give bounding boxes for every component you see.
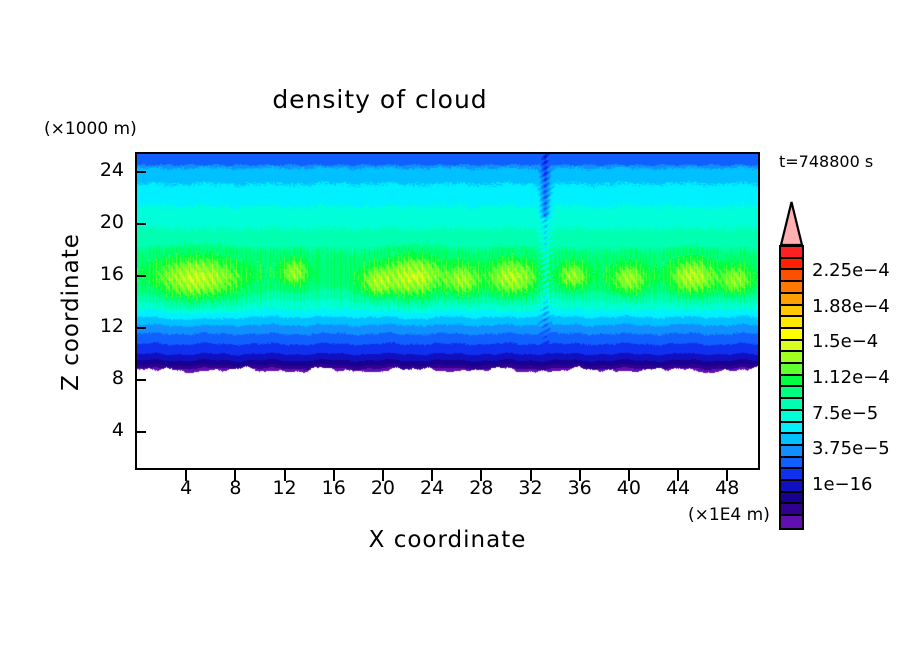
y-tick-label: 16 [78, 263, 124, 285]
colorbar-arrow-cap [779, 200, 804, 246]
colorbar-band [781, 364, 802, 376]
colorbar-band [781, 434, 802, 446]
colorbar-tick-label: 1e−16 [812, 474, 873, 495]
colorbar-band [781, 411, 802, 423]
y-tick-label: 8 [78, 367, 124, 389]
colorbar-band [781, 446, 802, 458]
y-tick-mark [135, 431, 146, 433]
colorbar-tick-label: 2.25e−4 [812, 260, 890, 281]
colorbar-band [781, 376, 802, 388]
colorbar-band [781, 329, 802, 341]
colorbar-band [781, 247, 802, 259]
colorbar-band [781, 493, 802, 505]
colorbar-band [781, 504, 802, 516]
y-tick-label: 24 [78, 159, 124, 181]
time-annotation: t=748800 s [779, 152, 873, 171]
x-tick-label: 48 [707, 477, 747, 499]
x-tick-label: 24 [412, 477, 452, 499]
colorbar-tick-label: 1.12e−4 [812, 367, 890, 388]
colorbar-band [781, 387, 802, 399]
y-tick-mark [135, 223, 146, 225]
y-tick-mark [135, 327, 146, 329]
colorbar-tick-label: 7.5e−5 [812, 403, 878, 424]
x-tick-label: 4 [166, 477, 206, 499]
colorbar-band [781, 270, 802, 282]
colorbar-band [781, 282, 802, 294]
x-tick-label: 16 [314, 477, 354, 499]
colorbar-band [781, 458, 802, 470]
contour-field [137, 154, 758, 468]
colorbar-tick-label: 1.88e−4 [812, 296, 890, 317]
x-tick-label: 44 [658, 477, 698, 499]
y-tick-mark [135, 171, 146, 173]
colorbar-tick-label: 1.5e−4 [812, 331, 878, 352]
x-tick-label: 40 [609, 477, 649, 499]
x-tick-label: 36 [560, 477, 600, 499]
colorbar-band [781, 294, 802, 306]
colorbar-band [781, 469, 802, 481]
contour-plot-area [135, 152, 760, 470]
y-tick-mark [135, 379, 146, 381]
y-tick-label: 20 [78, 211, 124, 233]
colorbar-bands [779, 245, 804, 530]
y-tick-label: 12 [78, 315, 124, 337]
y-tick-label: 4 [78, 419, 124, 441]
y-tick-mark [135, 275, 146, 277]
figure-canvas: density of cloud (×1000 m) Z coordinate … [0, 0, 904, 654]
colorbar-band [781, 306, 802, 318]
x-tick-label: 20 [363, 477, 403, 499]
x-axis-title: X coordinate [135, 527, 760, 553]
colorbar-band [781, 341, 802, 353]
x-tick-label: 28 [461, 477, 501, 499]
colorbar-band [781, 516, 802, 528]
y-axis-unit-label: (×1000 m) [44, 119, 137, 139]
colorbar-band [781, 481, 802, 493]
x-tick-label: 32 [511, 477, 551, 499]
colorbar-band [781, 399, 802, 411]
x-axis-unit-label: (×1E4 m) [688, 505, 770, 525]
page-title: density of cloud [0, 85, 760, 114]
colorbar-band [781, 259, 802, 271]
colorbar-band [781, 423, 802, 435]
colorbar-tick-label: 3.75e−5 [812, 438, 890, 459]
colorbar-band [781, 352, 802, 364]
x-tick-label: 8 [215, 477, 255, 499]
colorbar-band [781, 317, 802, 329]
x-tick-label: 12 [265, 477, 305, 499]
